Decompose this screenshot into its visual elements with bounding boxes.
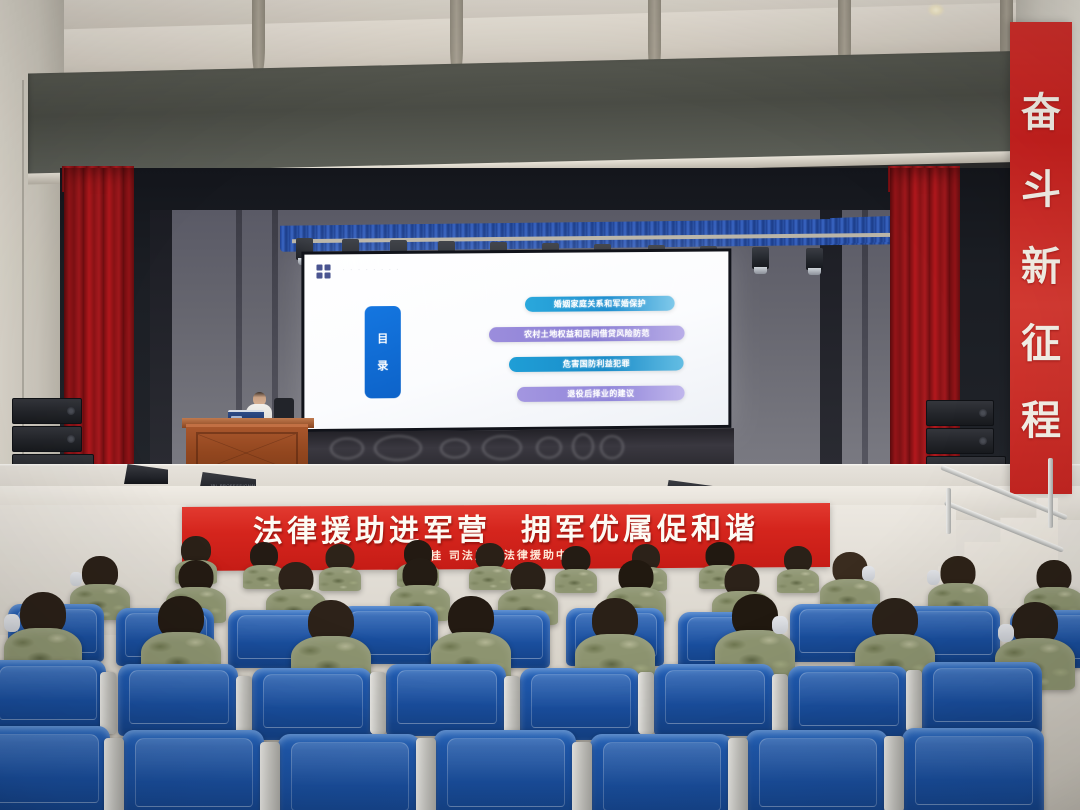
backwall-seam xyxy=(862,210,868,465)
seat-armrest xyxy=(236,676,252,738)
auditorium-scene: · · · · · · · · 目 录 婚姻家庭关系和军婚保护 农村土地权益和民… xyxy=(0,0,1080,810)
seat-armrest xyxy=(100,672,116,734)
right-vertical-banner: 奋 斗 新 征 程 xyxy=(1010,22,1072,494)
auditorium-seat[interactable] xyxy=(252,668,372,740)
seat-armrest xyxy=(104,738,124,810)
ceiling-rib xyxy=(252,0,265,78)
slide-surface: · · · · · · · · 目 录 婚姻家庭关系和军婚保护 农村土地权益和民… xyxy=(304,251,728,429)
face-mask xyxy=(927,570,940,585)
vbanner-char-5: 程 xyxy=(1021,401,1061,441)
audience-member xyxy=(320,544,360,586)
vbanner-char-3: 新 xyxy=(1021,247,1061,287)
banner-main-left: 法律援助进军营 xyxy=(253,505,491,550)
four-square-grid-logo xyxy=(316,264,330,278)
face-mask xyxy=(4,614,20,632)
toc-item: 退役后择业的建议 xyxy=(517,385,685,402)
seat-armrest xyxy=(504,676,520,738)
seat-armrest xyxy=(638,672,654,734)
pa-speaker-box xyxy=(926,428,994,454)
backwall-dark-panel xyxy=(820,210,842,468)
toc-item: 危害国防利益犯罪 xyxy=(509,356,684,373)
vbanner-char-1: 奋 xyxy=(1021,93,1061,133)
seat-armrest xyxy=(416,738,436,810)
auditorium-seat[interactable] xyxy=(788,666,908,738)
toc-label-box: 目 录 xyxy=(365,306,401,398)
auditorium-seat[interactable] xyxy=(902,728,1044,810)
seat-armrest xyxy=(370,672,386,734)
projection-screen: · · · · · · · · 目 录 婚姻家庭关系和军婚保护 农村土地权益和民… xyxy=(301,248,731,432)
face-mask xyxy=(70,572,82,586)
auditorium-seat[interactable] xyxy=(434,730,576,810)
pa-speaker-box xyxy=(926,400,994,426)
pa-speaker-box xyxy=(12,398,82,424)
backwall-dark-panel xyxy=(150,210,172,468)
vbanner-char-2: 斗 xyxy=(1021,170,1061,210)
seat-armrest xyxy=(884,736,904,810)
stage-lamp xyxy=(752,247,769,269)
auditorium-seat[interactable] xyxy=(0,726,110,810)
pa-speaker-box xyxy=(12,426,82,452)
handrail-post xyxy=(946,488,951,534)
auditorium-seat[interactable] xyxy=(118,664,238,736)
auditorium-seat[interactable] xyxy=(590,734,732,810)
face-mask xyxy=(998,624,1014,642)
toc-item-list: 婚姻家庭关系和军婚保护 农村土地权益和民间借贷风险防范 危害国防利益犯罪 退役后… xyxy=(487,295,716,402)
audience-member xyxy=(778,546,818,588)
auditorium-seat[interactable] xyxy=(0,660,106,732)
auditorium-seat[interactable] xyxy=(278,734,420,810)
toc-char-1: 目 xyxy=(377,333,388,344)
auditorium-seat[interactable] xyxy=(122,730,264,810)
auditorium-seat[interactable] xyxy=(922,662,1042,734)
toc-char-2: 录 xyxy=(377,360,388,371)
face-mask xyxy=(772,616,788,634)
seat-armrest xyxy=(906,670,922,732)
auditorium-seat[interactable] xyxy=(654,664,774,736)
ceiling-spot-light xyxy=(928,4,944,16)
toc-item: 农村土地权益和民间借贷风险防范 xyxy=(489,326,685,343)
toc-item: 婚姻家庭关系和军婚保护 xyxy=(525,296,675,312)
seat-armrest xyxy=(260,742,280,810)
seat-armrest xyxy=(772,674,788,736)
seat-armrest xyxy=(572,742,592,810)
auditorium-seat[interactable] xyxy=(746,730,888,810)
handrail-post xyxy=(1048,458,1053,528)
slide-header-faint-text: · · · · · · · · xyxy=(343,267,401,273)
vbanner-char-4: 征 xyxy=(1021,324,1061,364)
face-mask xyxy=(862,566,875,581)
audience-member xyxy=(556,546,596,588)
auditorium-seat[interactable] xyxy=(386,664,506,736)
stage-lamp xyxy=(806,248,823,270)
seat-armrest xyxy=(728,738,748,810)
